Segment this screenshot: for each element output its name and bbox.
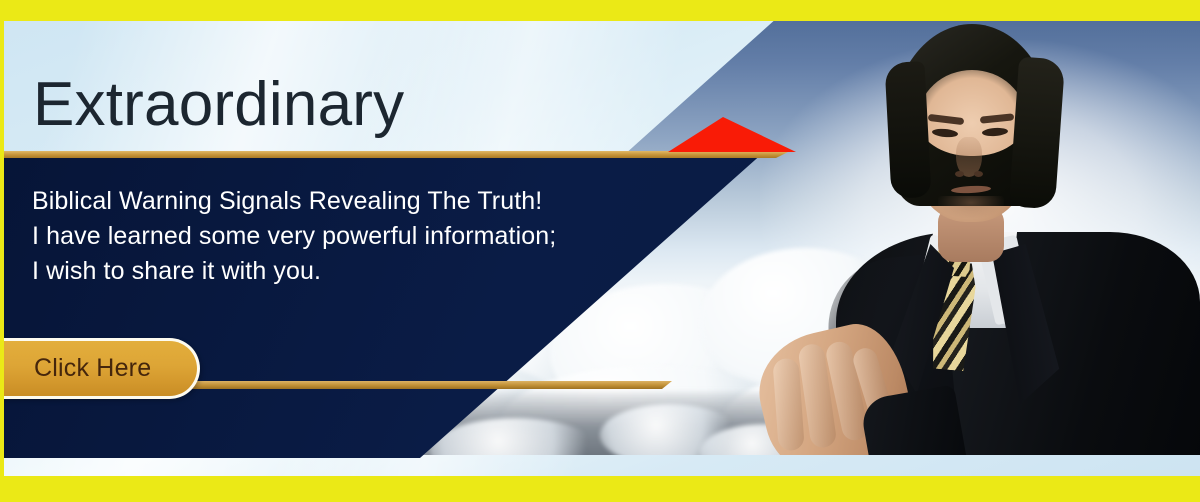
page-title: Extraordinary: [33, 74, 404, 136]
promo-banner: Extraordinary Biblical Warning Signals R…: [0, 0, 1200, 502]
nostril-left: [955, 171, 964, 177]
body-copy: Biblical Warning Signals Revealing The T…: [32, 184, 556, 289]
hair-left-side: [884, 61, 931, 199]
hair-right-side: [1009, 57, 1065, 210]
body-line-3: I wish to share it with you.: [32, 254, 556, 289]
click-here-button-label: Click Here: [34, 354, 151, 383]
frame-bottom-border: [0, 476, 1200, 502]
click-here-button[interactable]: Click Here: [0, 338, 200, 399]
red-arrow-icon: [668, 115, 796, 155]
body-line-1: Biblical Warning Signals Revealing The T…: [32, 184, 556, 219]
body-line-2: I have learned some very powerful inform…: [32, 219, 556, 254]
frame-left-border: [0, 0, 4, 502]
chin-shading: [938, 196, 1004, 218]
frame-top-border: [0, 0, 1200, 21]
nostril-right: [974, 171, 983, 177]
